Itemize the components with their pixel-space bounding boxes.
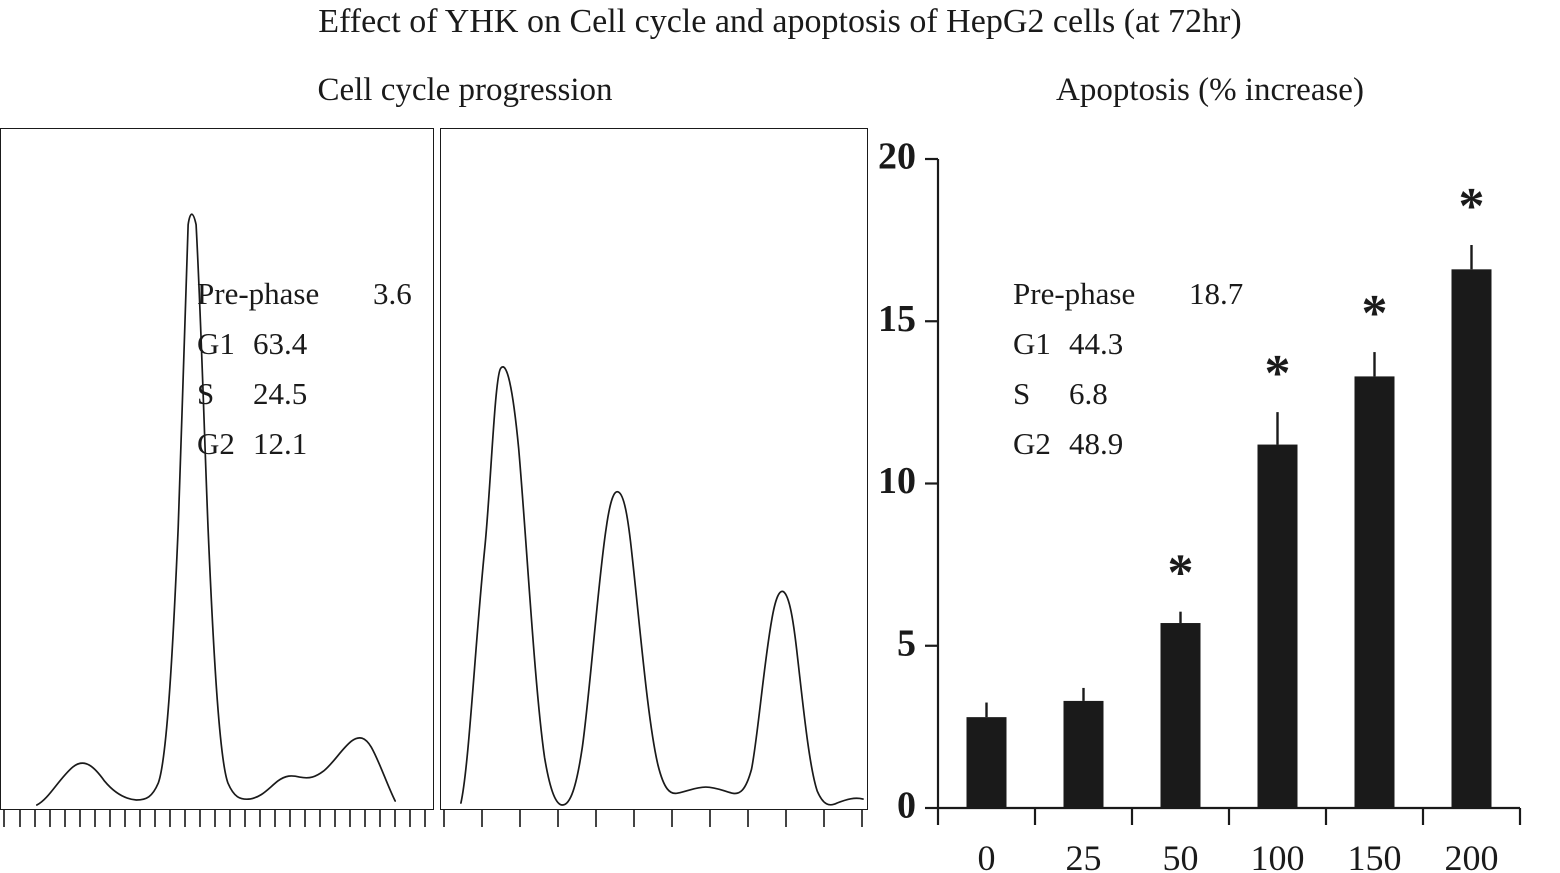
y-tick-label: 0: [897, 785, 916, 827]
control-histogram-curve: [1, 129, 433, 809]
significance-marker-150: *: [1362, 285, 1388, 342]
significance-marker-100: *: [1265, 345, 1291, 402]
x-tick-label-25: 25: [1066, 838, 1102, 873]
bar-50: [1161, 623, 1201, 808]
significance-marker-50: *: [1168, 545, 1194, 602]
bar-25: [1064, 701, 1104, 808]
x-tick-label-200: 200: [1445, 838, 1499, 873]
y-tick-label: 20: [878, 136, 916, 178]
significance-marker-200: *: [1459, 178, 1485, 235]
apoptosis-bar-chart: 05101520025*50*100*150*200: [860, 128, 1560, 873]
cell-cycle-histogram-treated: Pre-phase18.7 G144.3 S6.8 G248.9: [440, 128, 868, 810]
figure-root: Effect of YHK on Cell cycle and apoptosi…: [0, 0, 1560, 873]
stat-label: G1: [197, 319, 253, 369]
y-tick-label: 15: [878, 298, 916, 340]
bar-200: [1452, 269, 1492, 808]
x-tick-label-50: 50: [1163, 838, 1199, 873]
stat-row: G212.1: [197, 419, 412, 469]
stat-row: S24.5: [197, 369, 412, 419]
control-stats-block: Pre-phase3.6 G163.4 S24.5 G212.1: [197, 269, 412, 469]
bar-0: [967, 717, 1007, 808]
y-tick-label: 5: [897, 622, 916, 664]
control-histogram-axis-ticks: [0, 810, 434, 832]
stat-value: 63.4: [253, 319, 307, 369]
x-tick-label-150: 150: [1348, 838, 1402, 873]
bar-150: [1355, 376, 1395, 808]
stat-label: S: [197, 369, 253, 419]
stat-label: Pre-phase: [197, 269, 373, 319]
stat-value: 24.5: [253, 369, 307, 419]
treated-histogram-axis-ticks: [440, 810, 868, 832]
left-panel-subtitle: Cell cycle progression: [100, 70, 830, 110]
x-tick-label-0: 0: [978, 838, 996, 873]
figure-title: Effect of YHK on Cell cycle and apoptosi…: [0, 2, 1560, 42]
stat-value: 12.1: [253, 419, 307, 469]
stat-value: 3.6: [373, 269, 412, 319]
bar-100: [1258, 445, 1298, 808]
treated-histogram-curve: [441, 129, 867, 809]
stat-row: G163.4: [197, 319, 412, 369]
cell-cycle-histogram-control: Pre-phase3.6 G163.4 S24.5 G212.1: [0, 128, 434, 810]
stat-label: G2: [197, 419, 253, 469]
x-tick-label-100: 100: [1251, 838, 1305, 873]
stat-row: Pre-phase3.6: [197, 269, 412, 319]
apoptosis-bar-chart-svg: 05101520025*50*100*150*200: [860, 128, 1560, 873]
y-tick-label: 10: [878, 460, 916, 502]
right-panel-subtitle: Apoptosis (% increase): [880, 70, 1540, 110]
